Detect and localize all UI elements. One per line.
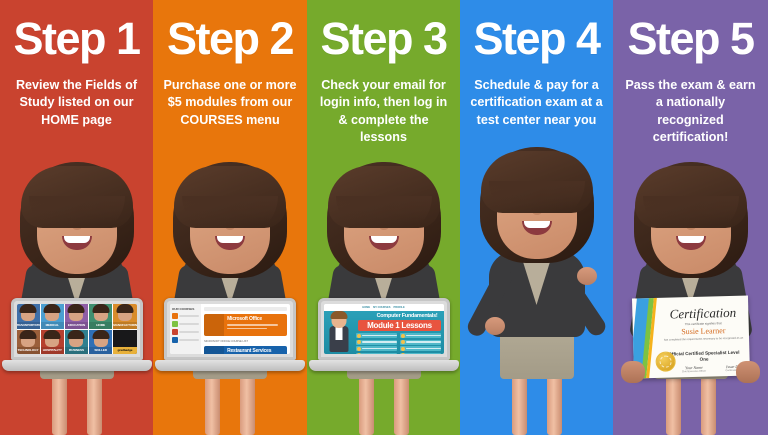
field-tile-label: BUSINESS — [65, 347, 88, 354]
field-tile-label: TRANSPORTATION — [17, 322, 40, 329]
laptop-2[interactable]: OUR COURSES Microsoft Office — [164, 298, 296, 371]
step-description-2: Purchase one or more $5 modules from our… — [153, 77, 307, 129]
field-tile-label: TECHNOLOGY — [17, 347, 40, 354]
step-panel-2: Step 2 Purchase one or more $5 modules f… — [153, 0, 307, 435]
course-card[interactable]: Microsoft Office — [204, 314, 287, 336]
certificate-seal-icon — [655, 351, 676, 372]
step-panel-3: Step 3 Check your email for login info, … — [307, 0, 460, 435]
course-sidebar[interactable]: OUR COURSES — [170, 304, 201, 354]
step-description-5: Pass the exam & earn a nationally recogn… — [613, 77, 768, 147]
field-tile-label: gradbadge — [113, 347, 136, 354]
hand-right — [736, 361, 760, 383]
step-panel-4: Step 4 Schedule & pay for a certificatio… — [460, 0, 613, 435]
lesson-nav-item[interactable]: MY COURSES — [373, 306, 390, 309]
step-panel-5: Step 5 Pass the exam & earn a nationally… — [613, 0, 768, 435]
course-sidebar-title: OUR COURSES — [172, 307, 199, 311]
field-tile-label: MANUFACTURING — [113, 322, 136, 329]
laptop-3[interactable]: HOME MY COURSES PROFILE Computer Fundame… — [318, 298, 450, 371]
step-description-4: Schedule & pay for a certification exam … — [460, 77, 613, 129]
step-title-2: Step 2 — [153, 16, 307, 61]
course-card-caption: MICROSOFT OFFICE COURSE LIST — [204, 340, 287, 343]
fields-grid[interactable]: TRANSPORTATION MEDICAL EDUCATION HOME MA… — [17, 304, 137, 354]
character-4 — [475, 145, 599, 435]
step-description-1: Review the Fields of Study listed on our… — [0, 77, 153, 129]
lesson-avatar-icon — [326, 312, 352, 352]
module-banner: Module 1 Lessons — [358, 320, 440, 331]
certificate-body: has completed the requirements necessary… — [663, 337, 744, 343]
course-card[interactable]: Restaurant Services — [204, 346, 287, 354]
certificate-recipient: Susie Learner — [662, 326, 743, 337]
field-tile-label: HOME — [89, 322, 112, 329]
step-description-3: Check your email for login info, then lo… — [307, 77, 460, 147]
course-card-title: Microsoft Office — [227, 316, 284, 322]
lesson-nav[interactable]: HOME MY COURSES PROFILE — [324, 304, 444, 311]
step-title-1: Step 1 — [0, 16, 153, 61]
certificate: Certification This certificate signifies… — [631, 295, 749, 378]
lesson-nav-item[interactable]: HOME — [362, 306, 370, 309]
hand-left — [621, 361, 645, 383]
head — [18, 160, 136, 286]
step-title-5: Step 5 — [613, 16, 768, 61]
field-tile-label: MEDICAL — [41, 322, 64, 329]
field-tile-label: HOSPITALITY — [41, 347, 64, 354]
five-step-banner: Step 1 Review the Fields of Study listed… — [0, 0, 768, 435]
lesson-nav-item[interactable]: PROFILE — [393, 306, 404, 309]
step-panel-1: Step 1 Review the Fields of Study listed… — [0, 0, 153, 435]
certificate-signature-left-role: Chief Executive Officer — [681, 370, 705, 374]
field-tile-label: SKILLED TRADES — [89, 347, 112, 354]
field-tile-label: EDUCATION — [65, 322, 88, 329]
step-title-4: Step 4 — [460, 16, 613, 61]
laptop-1[interactable]: TRANSPORTATION MEDICAL EDUCATION HOME MA… — [11, 298, 143, 371]
step-title-3: Step 3 — [307, 16, 460, 61]
course-card-title: Restaurant Services — [227, 348, 284, 354]
